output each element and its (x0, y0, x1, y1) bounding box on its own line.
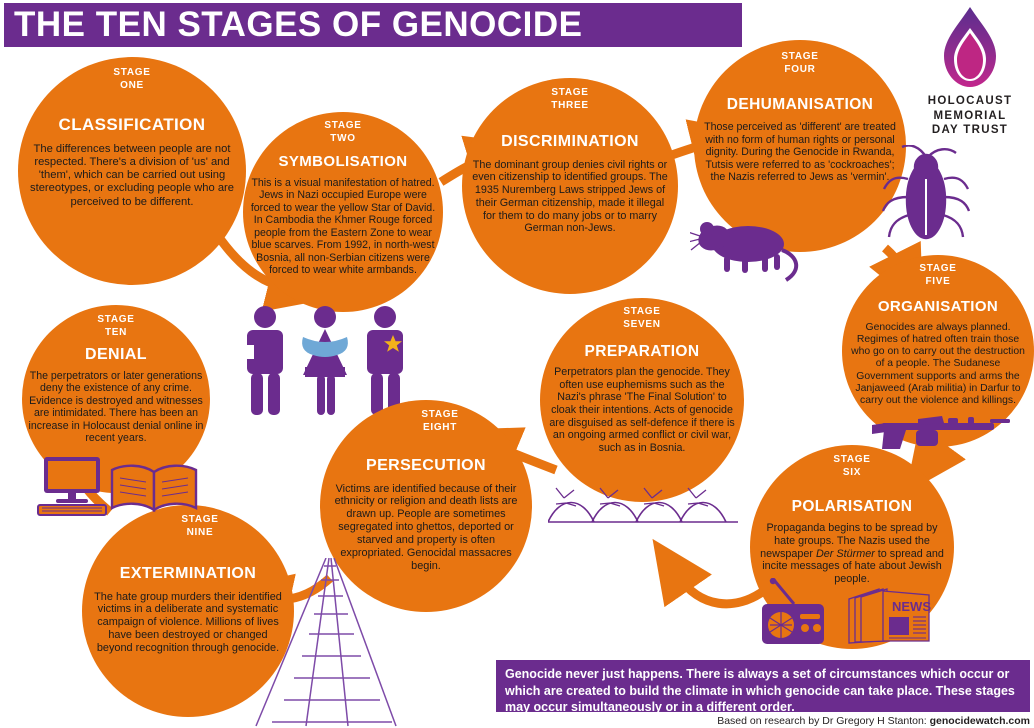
stage-seven-body: Perpetrators plan the genocide. They oft… (544, 366, 740, 454)
three-people-icon (235, 305, 415, 420)
footer-credit-prefix: Based on research by Dr Gregory H Stanto… (717, 715, 929, 727)
stage-two-body: This is a visual manifestation of hatred… (247, 177, 439, 277)
stage-circle-six[interactable]: STAGE SIX POLARISATION Propaganda begins… (750, 445, 954, 649)
stage-eight-body: Victims are identified because of their … (326, 483, 526, 573)
stage-five-title: ORGANISATION (878, 299, 998, 316)
header-title-bar: THE TEN STAGES OF GENOCIDE (4, 3, 742, 47)
flame-icon (940, 6, 1000, 88)
stage-three-body: The dominant group denies civil rights o… (468, 159, 672, 235)
stage-nine-number: STAGE NINE (181, 514, 218, 539)
stage-circle-eight[interactable]: STAGE EIGHT PERSECUTION Victims are iden… (320, 400, 532, 612)
infographic-canvas: THE TEN STAGES OF GENOCIDE HOLOCAUST MEM… (0, 0, 1034, 728)
logo-line-1: HOLOCAUST (914, 94, 1026, 109)
stage-one-body: The differences between people are not r… (26, 143, 238, 209)
stage-one-title: CLASSIFICATION (59, 116, 206, 135)
stage-four-title: DEHUMANISATION (727, 96, 874, 113)
stage-circle-seven[interactable]: STAGE SEVEN PREPARATION Perpetrators pla… (540, 298, 744, 502)
logo-line-2: MEMORIAL (914, 109, 1026, 124)
stage-circle-nine[interactable]: STAGE NINE EXTERMINATION The hate group … (82, 505, 294, 717)
stage-four-body: Those perceived as 'different' are treat… (700, 121, 900, 184)
stage-ten-title: DENIAL (85, 346, 147, 364)
stage-eight-title: PERSECUTION (366, 457, 486, 475)
stage-nine-title: EXTERMINATION (120, 565, 256, 583)
page-title: THE TEN STAGES OF GENOCIDE (14, 5, 583, 45)
white-armband-icon (246, 345, 254, 359)
footer-banner-text: Genocide never just happens. There is al… (505, 667, 1015, 714)
stage-circle-two[interactable]: STAGE TWO SYMBOLISATION This is a visual… (243, 112, 443, 312)
stage-circle-one[interactable]: STAGE ONE CLASSIFICATION The differences… (18, 57, 246, 285)
stage-one-number: STAGE ONE (113, 67, 150, 92)
stage-two-title: SYMBOLISATION (278, 154, 407, 171)
stage-seven-number: STAGE SEVEN (623, 306, 660, 331)
stage-three-number: STAGE THREE (551, 87, 588, 112)
stage-six-body-italic: Der Stürmer (816, 548, 875, 560)
footer-credit: Based on research by Dr Gregory H Stanto… (717, 715, 1030, 727)
stage-nine-body: The hate group murders their identified … (90, 591, 286, 655)
stage-six-body: Propaganda begins to be spread by hate g… (755, 522, 949, 586)
stage-circle-four[interactable]: STAGE FOUR DEHUMANISATION Those perceive… (694, 40, 906, 252)
stage-circle-three[interactable]: STAGE THREE DISCRIMINATION The dominant … (462, 78, 678, 294)
blue-scarf-icon (302, 337, 348, 357)
stage-four-number: STAGE FOUR (781, 51, 818, 76)
stage-two-number: STAGE TWO (324, 120, 361, 145)
stage-three-title: DISCRIMINATION (501, 133, 639, 151)
yellow-star-icon (384, 335, 402, 352)
logo-text: HOLOCAUST MEMORIAL DAY TRUST (914, 94, 1026, 138)
stage-circle-five[interactable]: STAGE FIVE ORGANISATION Genocides are al… (842, 255, 1034, 447)
stage-six-number: STAGE SIX (833, 454, 870, 479)
logo-block: HOLOCAUST MEMORIAL DAY TRUST (914, 6, 1026, 138)
stage-five-number: STAGE FIVE (919, 263, 956, 288)
stage-eight-number: STAGE EIGHT (421, 409, 458, 434)
footer-banner: Genocide never just happens. There is al… (496, 660, 1030, 712)
stage-six-title: POLARISATION (792, 498, 913, 515)
stage-ten-body: The perpetrators or later generations de… (25, 370, 207, 445)
logo-line-3: DAY TRUST (914, 123, 1026, 138)
footer-credit-site[interactable]: genocidewatch.com (930, 715, 1030, 727)
stage-seven-title: PREPARATION (585, 343, 700, 360)
stage-five-body: Genocides are always planned. Regimes of… (846, 322, 1030, 408)
stage-ten-number: STAGE TEN (97, 314, 134, 339)
stage-circle-ten[interactable]: STAGE TEN DENIAL The perpetrators or lat… (22, 305, 210, 493)
